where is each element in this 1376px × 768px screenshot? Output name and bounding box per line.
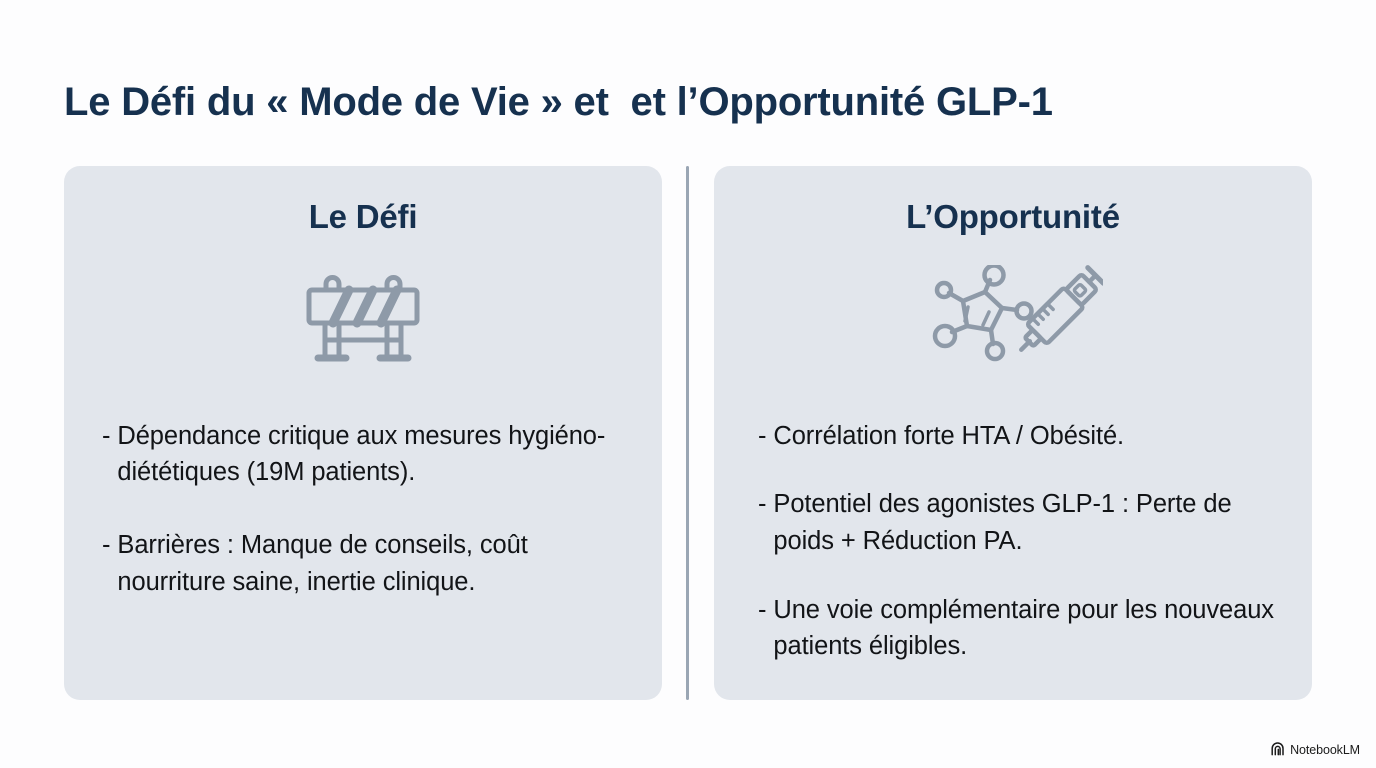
bullet-marker: -	[102, 418, 110, 491]
list-item: - Dépendance critique aux mesures hygién…	[102, 418, 628, 491]
panel-heading-le-defi: Le Défi	[64, 198, 662, 236]
bullet-marker: -	[758, 486, 766, 559]
bullet-text: Dépendance critique aux mesures hygiéno-…	[117, 418, 628, 491]
panel-divider	[686, 166, 689, 700]
notebooklm-logo-icon	[1270, 742, 1286, 758]
bullet-marker: -	[758, 418, 766, 455]
bullet-text: Corrélation forte HTA / Obésité.	[773, 418, 1284, 455]
bullet-text: Une voie complémentaire pour les nouveau…	[773, 592, 1284, 665]
slide-canvas: Le Défi du « Mode de Vie » et et l’Oppor…	[0, 0, 1376, 768]
notebooklm-brand: NotebookLM	[1270, 742, 1360, 758]
bullet-text: Potentiel des agonistes GLP-1 : Perte de…	[773, 486, 1284, 559]
bullet-list-le-defi: - Dépendance critique aux mesures hygién…	[102, 392, 628, 600]
bullet-text: Barrières : Manque de conseils, coût nou…	[117, 527, 628, 600]
bullet-marker: -	[102, 527, 110, 600]
list-item: - Barrières : Manque de conseils, coût n…	[102, 527, 628, 600]
bullet-marker: -	[758, 592, 766, 665]
list-item: - Corrélation forte HTA / Obésité.	[758, 418, 1284, 455]
list-item: - Une voie complémentaire pour les nouve…	[758, 592, 1284, 665]
molecule-syringe-icon	[714, 264, 1312, 376]
list-item: - Potentiel des agonistes GLP-1 : Perte …	[758, 486, 1284, 559]
road-barrier-icon	[64, 264, 662, 376]
notebooklm-label: NotebookLM	[1290, 743, 1360, 757]
bullet-list-l-opportunite: - Corrélation forte HTA / Obésité. - Pot…	[758, 392, 1284, 697]
page-title: Le Défi du « Mode de Vie » et et l’Oppor…	[64, 79, 1314, 125]
panel-le-defi: Le Défi - Dépendance critique aux mesu	[64, 166, 662, 700]
panel-heading-l-opportunite: L’Opportunité	[714, 198, 1312, 236]
panel-l-opportunite: L’Opportunité	[714, 166, 1312, 700]
